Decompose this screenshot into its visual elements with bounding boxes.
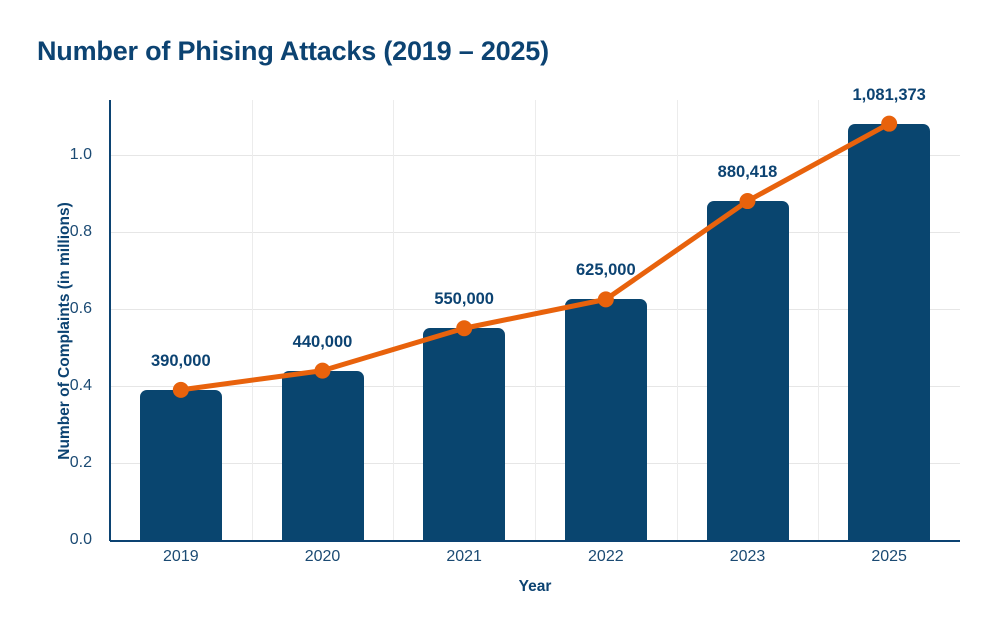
bar-2025[interactable] (848, 124, 930, 540)
bar-2019[interactable] (140, 390, 222, 540)
y-tick-label: 0.4 (22, 377, 92, 395)
data-label-2022: 625,000 (506, 261, 706, 280)
y-axis-title: Number of Complaints (in millions) (56, 121, 74, 541)
x-tick-label-2022: 2022 (546, 548, 666, 566)
data-label-2023: 880,418 (648, 163, 848, 182)
y-tick-label: 0.0 (22, 531, 92, 549)
data-label-2025: 1,081,373 (789, 86, 989, 105)
chart-title: Number of Phising Attacks (2019 – 2025) (37, 36, 549, 67)
gridline-vertical (535, 100, 536, 540)
bar-2021[interactable] (423, 328, 505, 540)
bar-2023[interactable] (707, 201, 789, 540)
x-tick-label-2020: 2020 (263, 548, 383, 566)
y-tick-label: 0.8 (22, 223, 92, 241)
bar-2020[interactable] (282, 371, 364, 540)
x-tick-label-2025: 2025 (829, 548, 949, 566)
gridline-vertical (393, 100, 394, 540)
bar-2022[interactable] (565, 299, 647, 540)
data-label-2020: 440,000 (223, 333, 423, 352)
data-label-2021: 550,000 (364, 290, 564, 309)
data-label-2019: 390,000 (81, 352, 281, 371)
x-tick-label-2019: 2019 (121, 548, 241, 566)
x-axis-spine (110, 540, 960, 542)
phishing-attacks-bar-line-chart: Number of Phising Attacks (2019 – 2025) … (0, 0, 1000, 624)
y-tick-label: 1.0 (22, 146, 92, 164)
x-axis-title: Year (110, 578, 960, 596)
x-tick-label-2023: 2023 (688, 548, 808, 566)
y-axis-spine (109, 100, 111, 541)
x-tick-label-2021: 2021 (404, 548, 524, 566)
gridline-vertical (252, 100, 253, 540)
y-tick-label: 0.2 (22, 454, 92, 472)
y-tick-label: 0.6 (22, 300, 92, 318)
